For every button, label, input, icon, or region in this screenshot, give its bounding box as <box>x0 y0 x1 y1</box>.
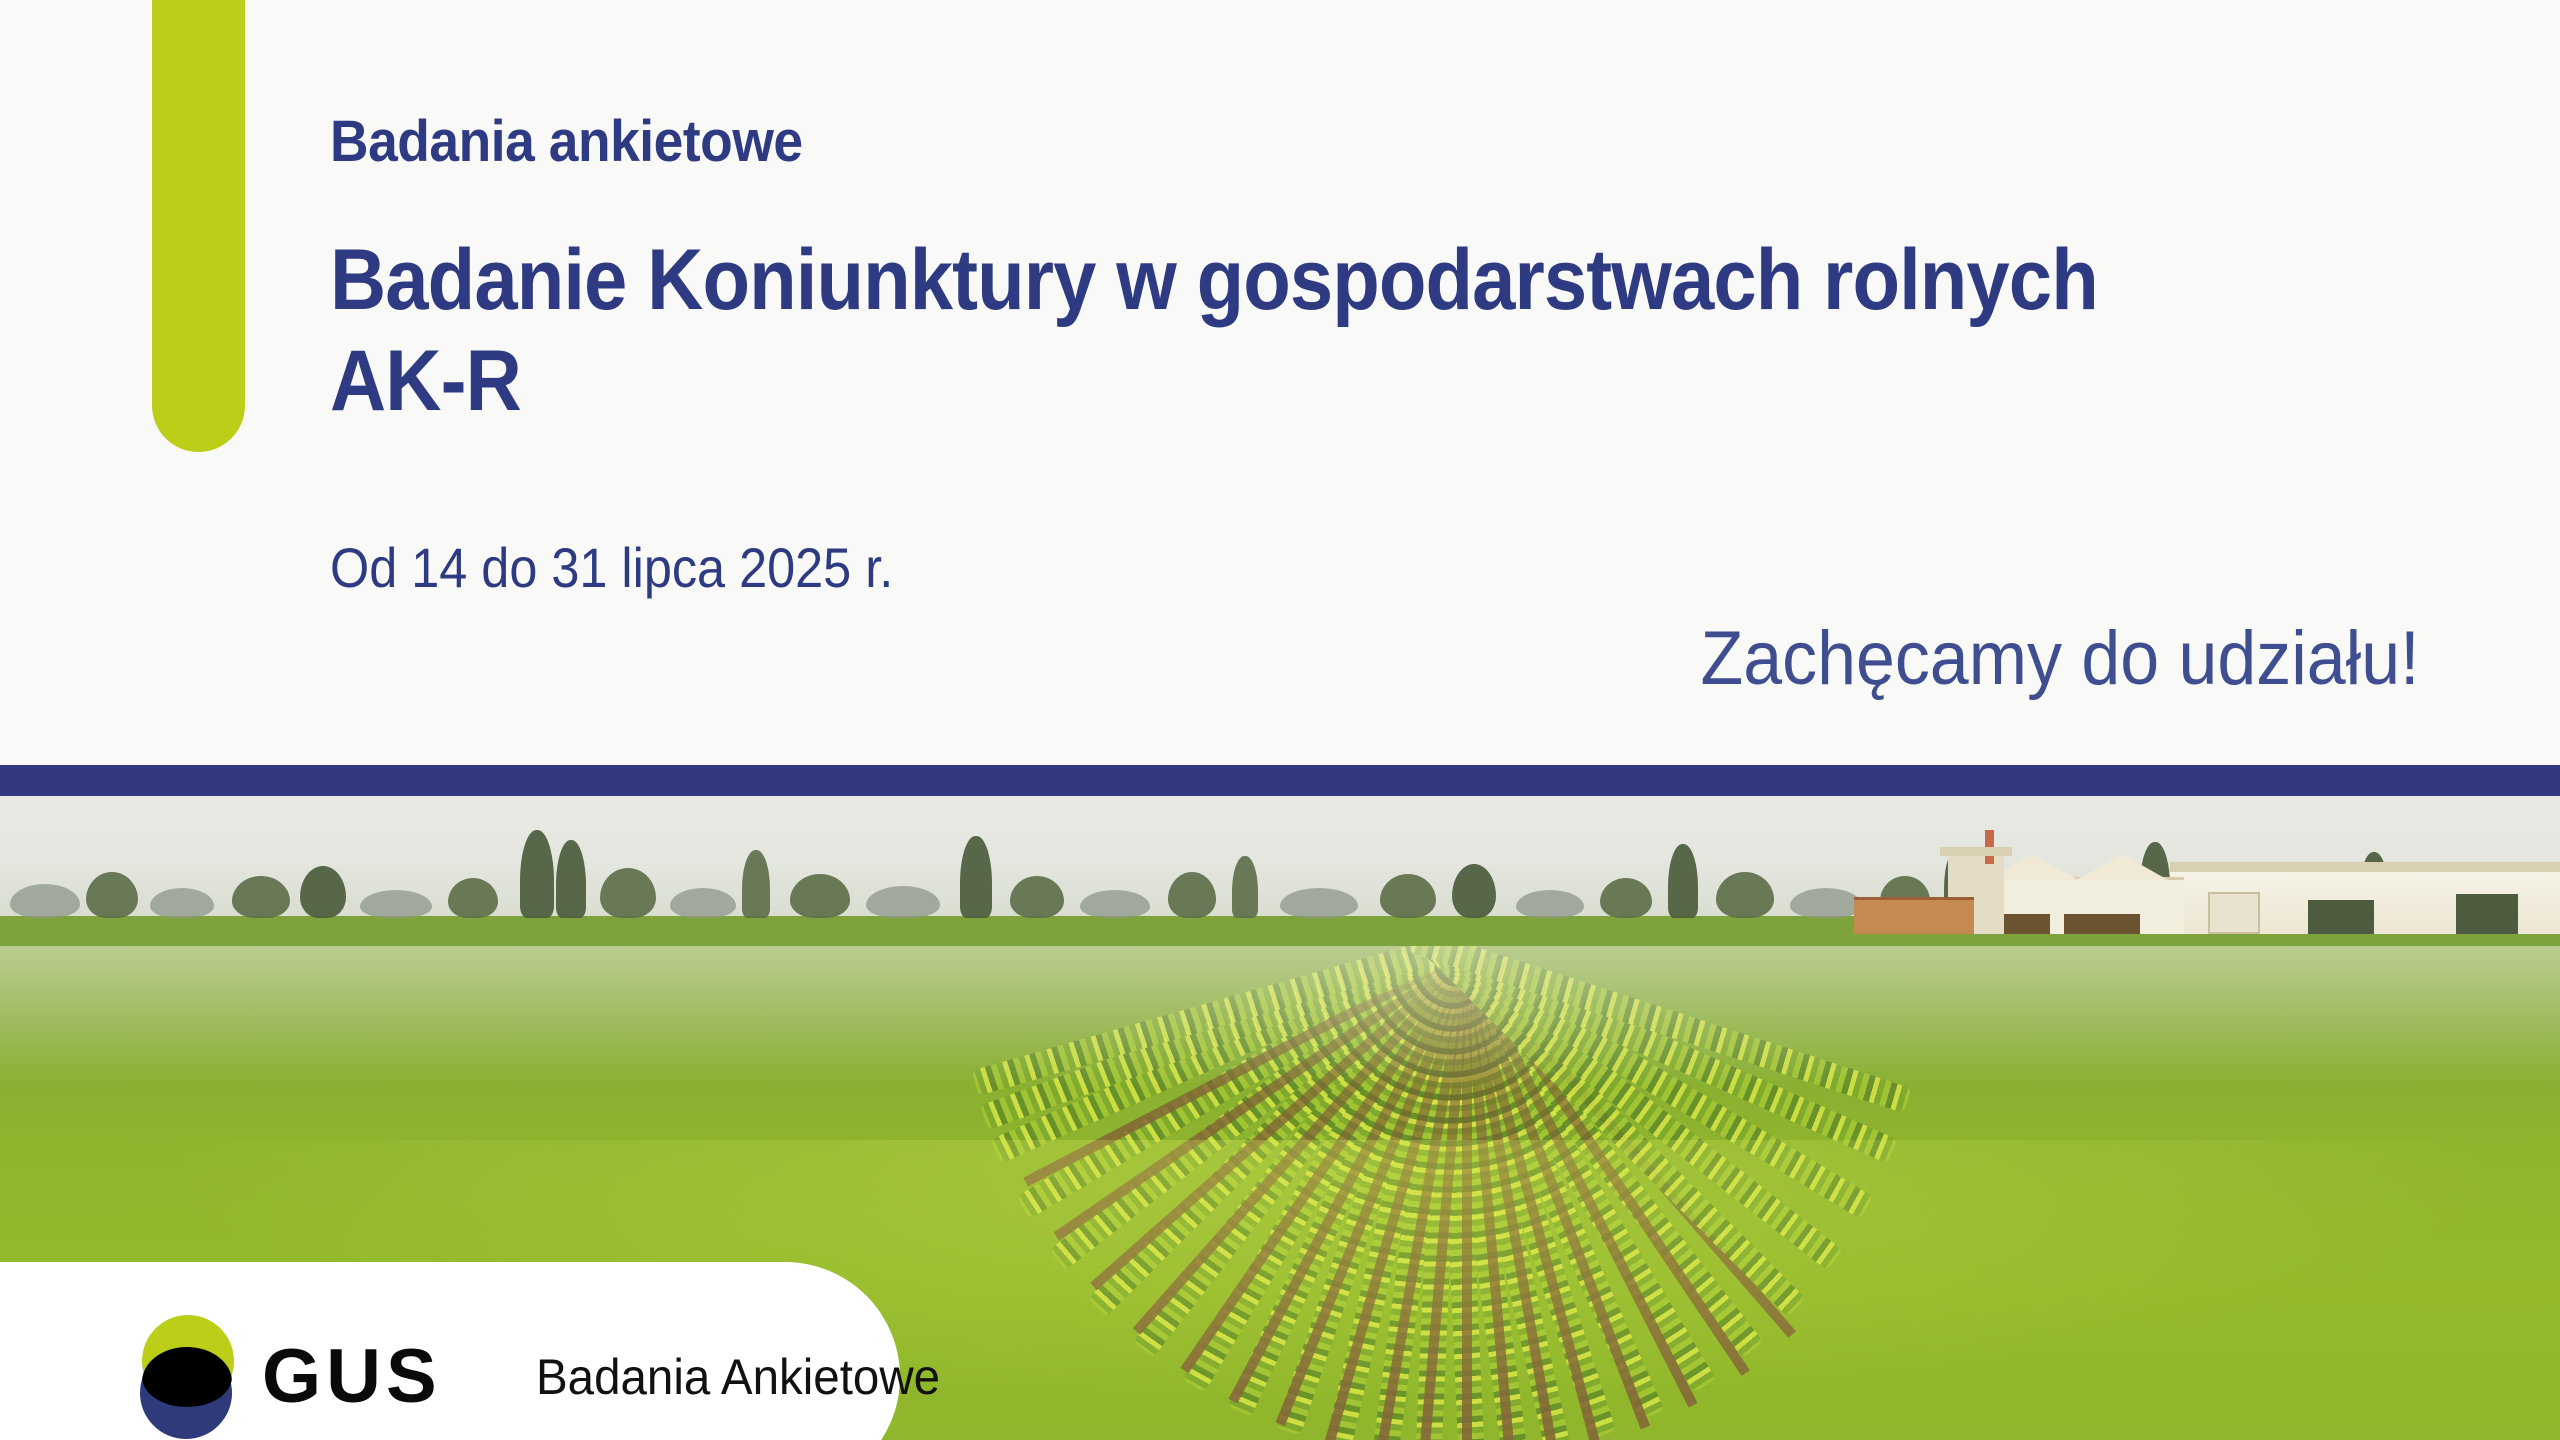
gus-wordmark: GUS <box>262 1339 442 1415</box>
farm-buildings <box>1940 830 2560 934</box>
page-title-line-2: AK-R <box>330 331 2203 432</box>
header-panel: Badania ankietowe Badanie Koniunktury w … <box>0 0 2560 765</box>
farm-house-orange <box>1854 897 1974 934</box>
lime-accent-bar <box>152 0 245 452</box>
logo-circle-overlap-icon <box>142 1347 232 1407</box>
field-atmospheric-haze <box>0 946 2560 1086</box>
eyebrow-label: Badania ankietowe <box>330 108 803 175</box>
header-text-column: Badania ankietowe Badanie Koniunktury w … <box>330 0 2430 765</box>
page-title: Badanie Koniunktury w gospodarstwach rol… <box>330 230 2400 431</box>
gus-logo-badge: GUS Badania Ankietowe <box>0 1262 900 1440</box>
page-title-line-1: Badanie Koniunktury w gospodarstwach rol… <box>330 230 2203 331</box>
logo-subtitle: Badania Ankietowe <box>536 1348 940 1406</box>
navy-divider-bar <box>0 765 2560 796</box>
date-range-label: Od 14 do 31 lipca 2025 r. <box>330 535 893 600</box>
poster: Badania ankietowe Badanie Koniunktury w … <box>0 0 2560 1440</box>
gus-logo-icon <box>140 1315 236 1439</box>
call-to-action-label: Zachęcamy do udziału! <box>1701 615 2420 702</box>
